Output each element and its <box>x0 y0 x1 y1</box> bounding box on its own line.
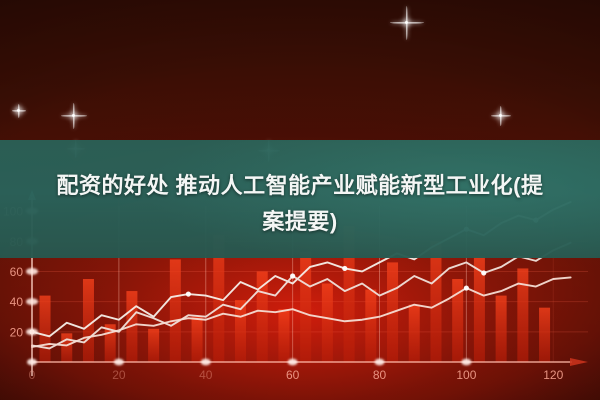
bar <box>148 329 159 362</box>
x-tick-dot <box>461 359 471 366</box>
y-tick-label: 40 <box>10 295 24 309</box>
point-marker <box>290 273 295 278</box>
x-tick-label: 60 <box>286 368 300 382</box>
bar <box>61 333 72 362</box>
point-marker <box>481 270 486 275</box>
y-tick-label: 60 <box>10 265 24 279</box>
bar <box>192 317 203 362</box>
page-title-line1: 配资的好处 推动人工智能产业赋能新型工业化(提 <box>57 173 544 198</box>
bar <box>539 308 550 362</box>
x-tick-dot <box>288 359 298 366</box>
x-tick-label: 20 <box>112 368 126 382</box>
point-marker <box>186 291 191 296</box>
screenshot-root: 20406080100020406080100120 配资的好处 推动人工智能产… <box>0 0 600 400</box>
x-tick-label: 0 <box>29 368 36 382</box>
bar <box>409 305 420 362</box>
page-title: 配资的好处 推动人工智能产业赋能新型工业化(提 案提要) <box>0 168 600 240</box>
x-tick-dot <box>27 359 37 366</box>
y-tick-dot <box>26 328 38 335</box>
bar <box>322 284 333 362</box>
x-tick-label: 120 <box>543 368 563 382</box>
bar <box>365 290 376 362</box>
y-tick-dot <box>26 268 38 275</box>
page-title-line2: 案提要) <box>8 204 592 240</box>
bar <box>496 296 507 362</box>
bar <box>278 309 289 362</box>
point-marker <box>342 266 347 271</box>
x-tick-dot <box>201 359 211 366</box>
x-tick-label: 40 <box>199 368 213 382</box>
x-tick-label: 80 <box>373 368 387 382</box>
y-tick-dot <box>26 298 38 305</box>
x-tick-label: 100 <box>456 368 476 382</box>
bar <box>40 296 51 362</box>
bar <box>170 259 181 362</box>
point-marker <box>464 285 469 290</box>
bar <box>517 268 528 362</box>
bar <box>430 241 441 362</box>
x-axis-arrow-icon <box>570 358 588 366</box>
x-tick-dot <box>114 359 124 366</box>
bar <box>83 279 94 362</box>
y-tick-label: 20 <box>10 325 24 339</box>
x-tick-dot <box>375 359 385 366</box>
